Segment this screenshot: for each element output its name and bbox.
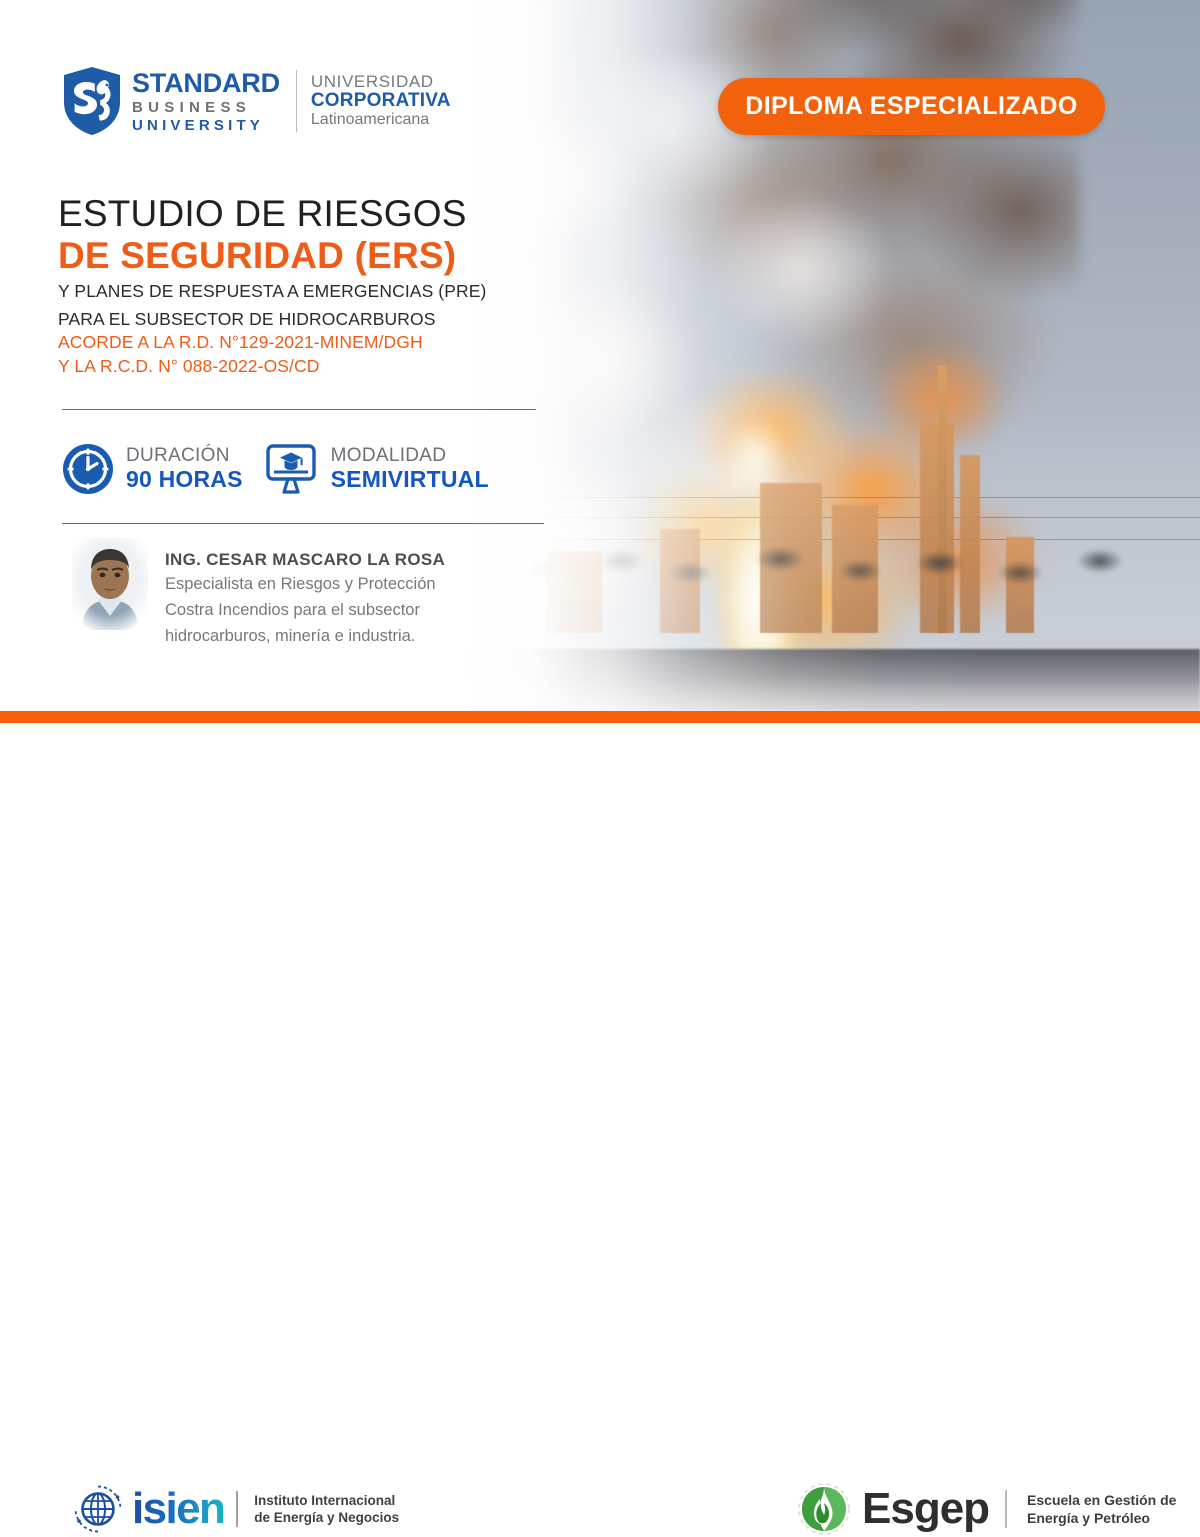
uc-line-latinoamericana: Latinoamericana: [311, 112, 451, 129]
esgep-tagline-line-1: Escuela en Gestión de: [1027, 1491, 1176, 1509]
esgep-logo: Esgep Escuela en Gestión de Energía y Pe…: [796, 1481, 1176, 1537]
isien-tagline-line-2: de Energía y Negocios: [254, 1509, 399, 1526]
title-subtitle-2: PARA EL SUBSECTOR DE HIDROCARBUROS: [58, 308, 558, 331]
meta-value-duracion: 90 HORAS: [126, 467, 243, 493]
uc-line-corporativa: CORPORATIVA: [311, 91, 451, 111]
esgep-wordmark: Esgep: [862, 1487, 989, 1531]
isien-divider: [236, 1491, 238, 1527]
instructor-desc-line-1: Especialista en Riesgos y Protección: [165, 573, 445, 596]
diploma-badge[interactable]: DIPLOMA ESPECIALIZADO: [718, 78, 1105, 135]
universidad-corporativa-wordmark: UNIVERSIDAD CORPORATIVA Latinoamericana: [311, 73, 451, 128]
instructor-name: ING. CESAR MASCARO LA ROSA: [165, 550, 445, 570]
sbu-line-business: BUSINESS: [132, 100, 280, 115]
poster-canvas: DIPLOMA ESPECIALIZADO STANDARD BUSINESS …: [0, 0, 1200, 864]
title-regulation-2: Y LA R.C.D. N° 088-2022-OS/CD: [58, 355, 558, 378]
divider-bottom: [62, 523, 544, 524]
sbu-line-standard: STANDARD: [132, 70, 280, 97]
title-line-2: DE SEGURIDAD (ERS): [58, 235, 558, 276]
green-leaf-flame-icon: [796, 1481, 852, 1537]
meta-value-modalidad: SEMIVIRTUAL: [331, 467, 489, 493]
instructor-desc-line-3: hidrocarburos, minería e industria.: [165, 625, 445, 648]
meta-text-modalidad: MODALIDAD SEMIVIRTUAL: [331, 445, 489, 492]
isien-logo: isien Instituto Internacional de Energía…: [72, 1483, 399, 1535]
esgep-divider: [1005, 1490, 1007, 1528]
sbu-line-university: UNIVERSITY: [132, 118, 280, 133]
isien-tagline-line-1: Instituto Internacional: [254, 1492, 399, 1509]
instructor-block: ING. CESAR MASCARO LA ROSA Especialista …: [72, 538, 445, 647]
diploma-badge-label: DIPLOMA ESPECIALIZADO: [745, 92, 1077, 121]
meta-label-duracion: DURACIÓN: [126, 445, 243, 466]
sbu-wordmark: STANDARD BUSINESS UNIVERSITY: [132, 70, 280, 133]
isien-tagline: Instituto Internacional de Energía y Neg…: [254, 1492, 399, 1527]
meta-item-duracion: DURACIÓN 90 HORAS: [62, 443, 243, 495]
orange-divider-bar: [0, 711, 1200, 723]
course-meta: DURACIÓN 90 HORAS MODALIDAD SEMIVIRTUAL: [62, 443, 489, 495]
meta-item-modalidad: MODALIDAD SEMIVIRTUAL: [265, 443, 489, 495]
esgep-tagline: Escuela en Gestión de Energía y Petróleo: [1027, 1491, 1176, 1527]
shield-lion-icon: [62, 66, 122, 136]
course-title-block: ESTUDIO DE RIESGOS DE SEGURIDAD (ERS) Y …: [58, 194, 558, 378]
title-line-1: ESTUDIO DE RIESGOS: [58, 194, 558, 234]
uc-line-universidad: UNIVERSIDAD: [311, 73, 451, 91]
meta-text-duracion: DURACIÓN 90 HORAS: [126, 445, 243, 492]
divider-top: [62, 409, 536, 410]
clock-icon: [62, 443, 114, 495]
instructor-info: ING. CESAR MASCARO LA ROSA Especialista …: [165, 538, 445, 647]
footer-section: isien Instituto Internacional de Energía…: [0, 723, 1200, 864]
isien-wordmark: isien: [132, 1487, 224, 1531]
instructor-photo: [72, 538, 148, 630]
title-subtitle-1: Y PLANES DE RESPUESTA A EMERGENCIAS (PRE…: [58, 280, 558, 303]
brand-divider: [296, 70, 297, 132]
globe-icon: [72, 1483, 124, 1535]
esgep-tagline-line-2: Energía y Petróleo: [1027, 1509, 1176, 1527]
monitor-graduation-cap-icon: [265, 443, 319, 495]
brand-logos: STANDARD BUSINESS UNIVERSITY UNIVERSIDAD…: [62, 66, 451, 136]
instructor-desc-line-2: Costra Incendios para el subsector: [165, 599, 445, 622]
meta-label-modalidad: MODALIDAD: [331, 445, 489, 466]
title-regulation-1: ACORDE A LA R.D. N°129-2021-MINEM/DGH: [58, 331, 558, 354]
